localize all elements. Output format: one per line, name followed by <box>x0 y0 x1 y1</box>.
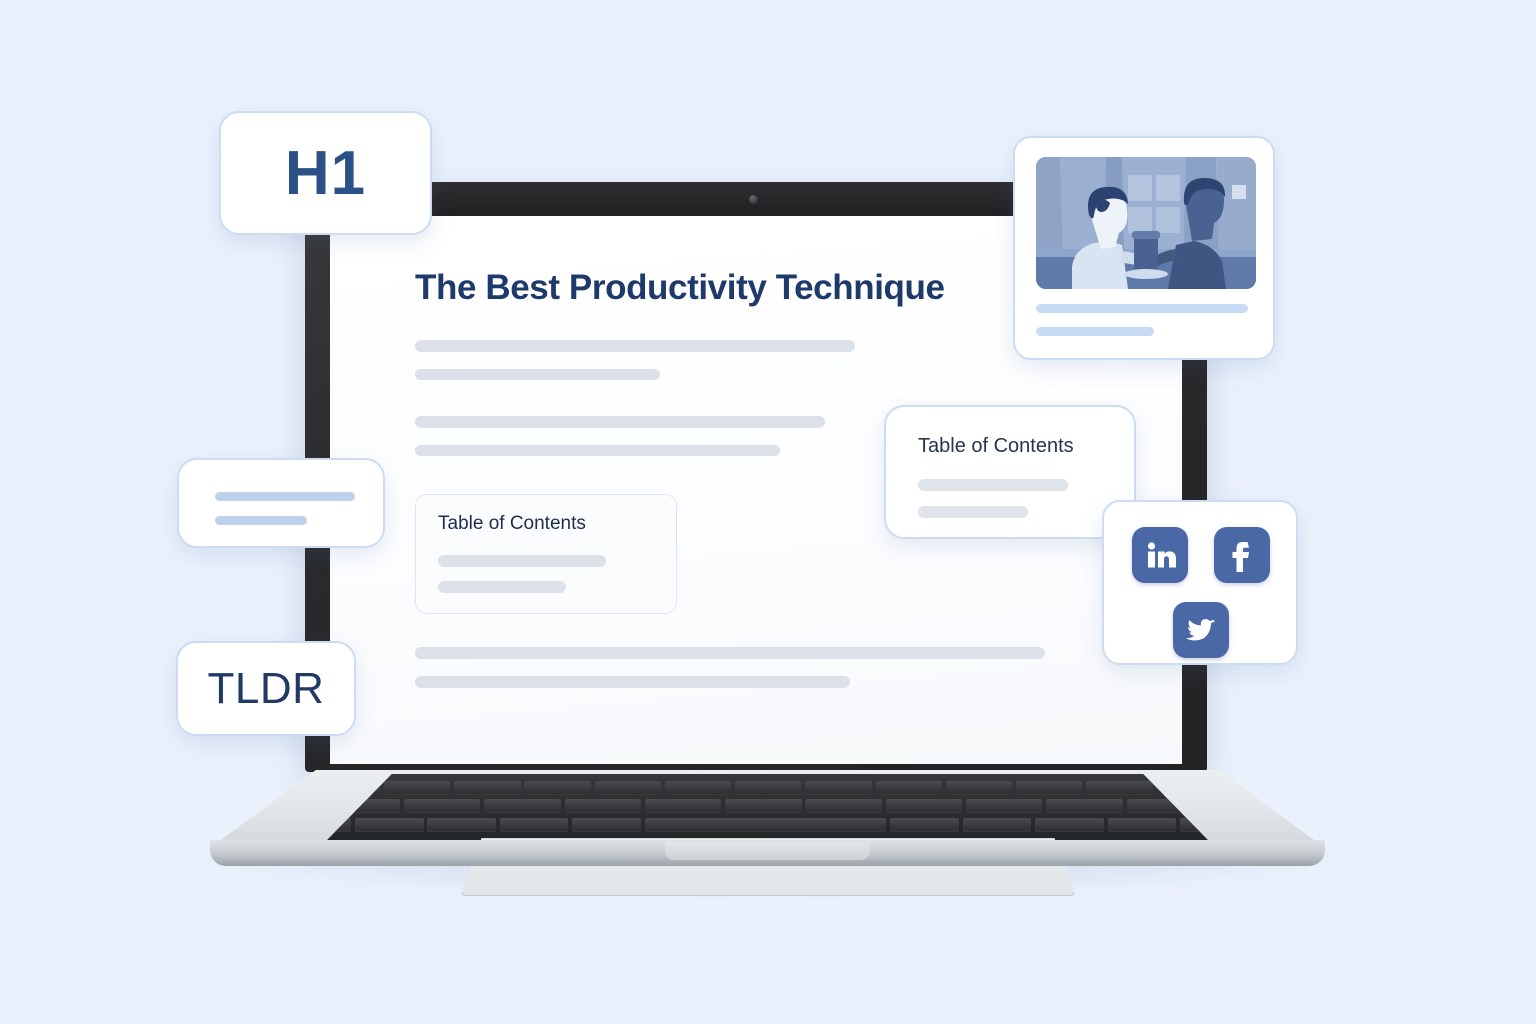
keyboard-key[interactable] <box>966 799 1042 813</box>
keyboard-key[interactable] <box>524 781 590 795</box>
keyboard-key[interactable] <box>1016 781 1082 795</box>
text-placeholder-line <box>415 369 660 380</box>
keyboard-key[interactable] <box>946 781 1012 795</box>
keyboard-key[interactable] <box>876 781 942 795</box>
keyboard-key[interactable] <box>665 781 731 795</box>
keyboard-key[interactable] <box>1035 818 1104 832</box>
social-share-card[interactable] <box>1102 500 1298 665</box>
badge-tldr[interactable]: TLDR <box>176 641 356 736</box>
toc-entry-placeholder[interactable] <box>918 479 1068 491</box>
keyboard-key[interactable] <box>1046 799 1122 813</box>
keyboard-key[interactable] <box>355 818 424 832</box>
keyboard-key[interactable] <box>1108 818 1177 832</box>
two-people-at-counter-illustration <box>1036 157 1256 289</box>
keyboard-key[interactable] <box>595 781 661 795</box>
keyboard-key[interactable] <box>1086 781 1152 795</box>
toc-entry-placeholder[interactable] <box>438 555 606 567</box>
placeholder-line <box>215 492 355 501</box>
keyboard-key[interactable] <box>484 799 560 813</box>
placeholder-line <box>215 516 307 525</box>
toc-entry-placeholder[interactable] <box>438 581 566 593</box>
keyboard-key[interactable] <box>500 818 569 832</box>
video-preview-card[interactable] <box>1013 136 1275 360</box>
twitter-icon[interactable] <box>1173 602 1229 658</box>
page-title: The Best Productivity Technique <box>415 268 945 308</box>
text-placeholder-line <box>415 445 780 456</box>
placeholder-line <box>1036 304 1248 313</box>
badge-h1-label: H1 <box>285 138 366 209</box>
table-of-contents-title: Table of Contents <box>438 513 586 535</box>
keyboard-key[interactable] <box>963 818 1032 832</box>
keyboard-key[interactable] <box>735 781 801 795</box>
text-placeholder-line <box>415 676 850 688</box>
keyboard-key[interactable] <box>886 799 962 813</box>
badge-tldr-label: TLDR <box>208 664 325 714</box>
webcam-icon <box>749 195 758 204</box>
keyboard-key[interactable] <box>645 799 721 813</box>
keyboard-key[interactable] <box>805 799 881 813</box>
keyboard-key[interactable] <box>645 818 886 832</box>
text-placeholder-line <box>415 340 855 352</box>
text-placeholder-line <box>415 647 1045 659</box>
screenshot-stage: The Best Productivity Technique Table of… <box>0 0 1536 1024</box>
text-placeholder-line <box>415 416 825 428</box>
linkedin-icon[interactable] <box>1132 527 1188 583</box>
table-of-contents-title: Table of Contents <box>918 435 1074 458</box>
placeholder-line <box>1036 327 1154 336</box>
keyboard-key[interactable] <box>404 799 480 813</box>
laptop-lip-notch <box>665 842 870 860</box>
facebook-icon[interactable] <box>1214 527 1270 583</box>
video-thumbnail-image[interactable] <box>1036 157 1256 289</box>
keyboard-key[interactable] <box>725 799 801 813</box>
toc-entry-placeholder[interactable] <box>918 506 1028 518</box>
table-of-contents-panel[interactable]: Table of Contents <box>415 494 677 614</box>
keyboard-key[interactable] <box>890 818 959 832</box>
floating-table-of-contents-card[interactable]: Table of Contents <box>884 405 1136 539</box>
keyboard-key[interactable] <box>384 781 450 795</box>
badge-h1[interactable]: H1 <box>219 111 432 235</box>
keyboard-key[interactable] <box>565 799 641 813</box>
keyboard-key[interactable] <box>454 781 520 795</box>
keyboard-key[interactable] <box>427 818 496 832</box>
text-lines-card[interactable] <box>177 458 385 548</box>
keyboard-key[interactable] <box>572 818 641 832</box>
laptop-base <box>210 770 1325 862</box>
keyboard-key[interactable] <box>805 781 871 795</box>
